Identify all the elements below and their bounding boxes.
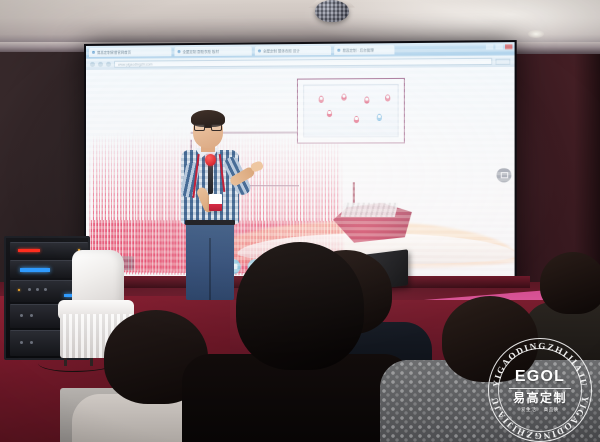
forward-icon[interactable] <box>98 62 103 67</box>
zoom-detail-callout <box>297 78 405 144</box>
map-pin-icon[interactable] <box>385 94 390 101</box>
map-pin-icon[interactable] <box>364 97 369 104</box>
map-pin-icon[interactable] <box>341 94 346 101</box>
audience-member-4 <box>408 296 600 442</box>
chat-icon[interactable] <box>497 168 512 182</box>
screenshot-root: 易高定制家居官网首页 全屋定制 厨柜衣柜 板材 全屋定制 整体衣柜 设计 易高定… <box>0 0 600 442</box>
map-pin-icon[interactable] <box>327 110 332 117</box>
presenter-belt <box>185 220 235 225</box>
glasses-icon <box>194 124 222 131</box>
maximize-icon[interactable] <box>495 44 502 49</box>
chair-backrest <box>72 250 124 306</box>
map-pin-icon[interactable] <box>354 116 359 123</box>
disco-mirror-ball-icon <box>305 0 357 24</box>
downlight-icon <box>528 30 544 38</box>
reload-icon[interactable] <box>106 62 111 67</box>
tab-favicon-icon <box>92 51 95 54</box>
browser-tab-3[interactable]: 全屋定制 整体衣柜 设计 <box>255 46 331 56</box>
map-pin-icon[interactable] <box>319 96 324 103</box>
tab-favicon-icon <box>337 49 340 52</box>
back-icon[interactable] <box>90 62 95 67</box>
browser-tab-2[interactable]: 全屋定制 厨柜衣柜 板材 <box>174 47 251 57</box>
browser-tab-3-label: 全屋定制 整体衣柜 设计 <box>263 48 300 53</box>
product-mast <box>353 182 355 204</box>
callout-inner-panel <box>303 84 398 137</box>
browser-tab-1-label: 易高定制家居官网首页 <box>97 50 131 55</box>
browser-tab-2-label: 全屋定制 厨柜衣柜 板材 <box>183 49 219 54</box>
map-pin-icon-secondary[interactable] <box>377 114 382 121</box>
audience-member-2 <box>190 242 390 442</box>
go-button[interactable] <box>495 58 510 64</box>
minimize-icon[interactable] <box>486 44 493 49</box>
browser-tab-4[interactable]: 易高定制 - 后台管理 <box>334 45 394 55</box>
close-icon[interactable] <box>505 44 512 49</box>
microphone-body <box>208 164 213 194</box>
tab-favicon-icon <box>258 49 261 52</box>
microphone-icon <box>205 154 216 166</box>
browser-tab-1[interactable]: 易高定制家居官网首页 <box>89 47 171 57</box>
window-controls[interactable] <box>486 44 513 49</box>
product-deck <box>341 203 399 217</box>
presenter-badge <box>209 194 222 211</box>
browser-tab-4-label: 易高定制 - 后台管理 <box>342 47 373 52</box>
tab-favicon-icon <box>177 50 180 53</box>
url-input[interactable]: www.yigaodingzhi.com <box>114 58 492 68</box>
